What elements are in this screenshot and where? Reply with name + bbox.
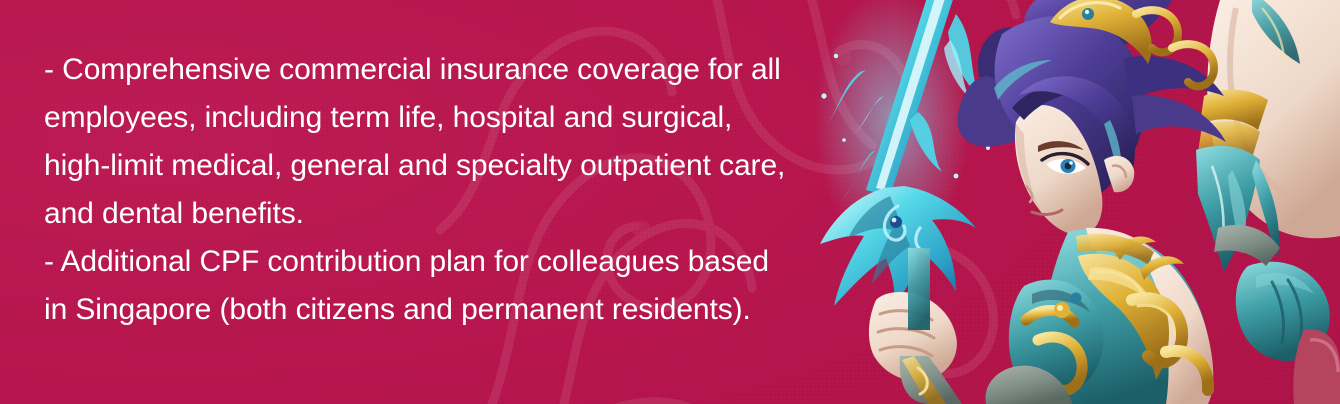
benefits-text-block: - Comprehensive commercial insurance cov… <box>44 46 854 334</box>
benefits-line-5: - Additional CPF contribution plan for c… <box>44 238 854 286</box>
benefits-line-1: - Comprehensive commercial insurance cov… <box>44 46 854 94</box>
benefits-banner: - Comprehensive commercial insurance cov… <box>0 0 1340 404</box>
benefits-line-6: in Singapore (both citizens and permanen… <box>44 286 854 334</box>
benefits-line-2: employees, including term life, hospital… <box>44 94 854 142</box>
benefits-line-3: high-limit medical, general and specialt… <box>44 142 854 190</box>
benefits-line-4: and dental benefits. <box>44 190 854 238</box>
